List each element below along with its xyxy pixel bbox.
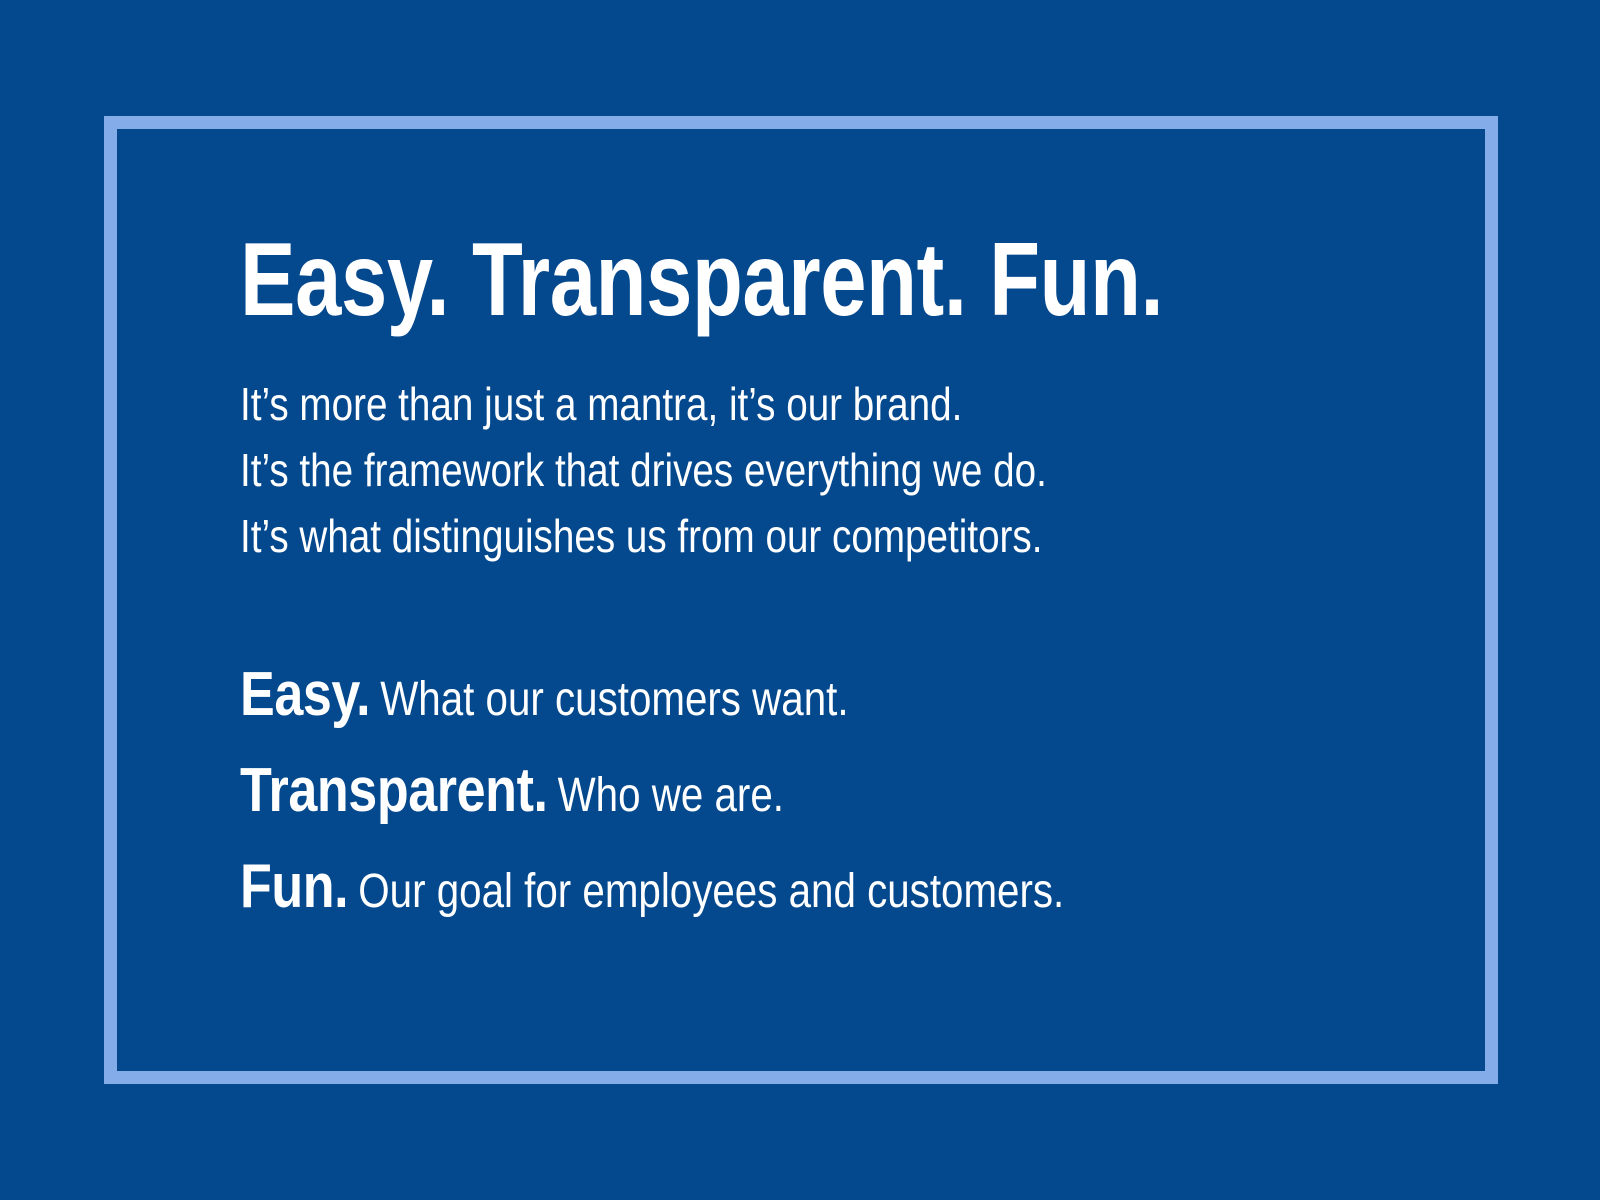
definition-term-transparent: Transparent. xyxy=(240,756,548,825)
slide-content: Easy. Transparent. Fun. It’s more than j… xyxy=(240,225,1440,943)
definition-description-fun: Our goal for employees and customers. xyxy=(358,865,1064,918)
definition-term-fun: Fun. xyxy=(240,852,348,921)
definition-term-easy: Easy. xyxy=(240,660,370,729)
slide-canvas: Easy. Transparent. Fun. It’s more than j… xyxy=(0,0,1600,1200)
intro-paragraph: It’s more than just a mantra, it’s our b… xyxy=(240,371,1440,569)
intro-line-3: It’s what distinguishes us from our comp… xyxy=(240,503,1248,569)
definition-description-easy: What our customers want. xyxy=(380,673,848,726)
intro-line-2: It’s the framework that drives everythin… xyxy=(240,437,1248,503)
definition-item-transparent: Transparent.Who we are. xyxy=(240,751,1248,847)
definition-item-easy: Easy.What our customers want. xyxy=(240,655,1248,751)
definition-description-transparent: Who we are. xyxy=(558,769,784,822)
definitions-list: Easy.What our customers want. Transparen… xyxy=(240,655,1440,943)
definition-item-fun: Fun.Our goal for employees and customers… xyxy=(240,847,1248,943)
page-title: Easy. Transparent. Fun. xyxy=(240,225,1200,335)
intro-line-1: It’s more than just a mantra, it’s our b… xyxy=(240,371,1248,437)
